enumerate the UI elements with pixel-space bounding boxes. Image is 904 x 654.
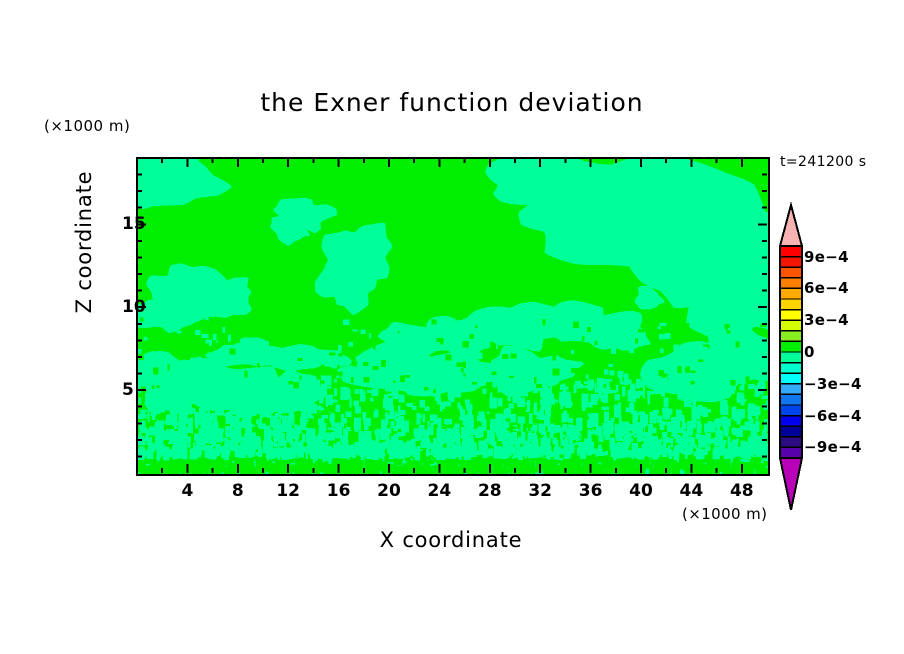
- turbulence-speck: [270, 446, 273, 452]
- turbulence-speck: [218, 417, 226, 420]
- turbulence-speck: [194, 446, 198, 459]
- turbulence-speck: [197, 356, 201, 358]
- turbulence-speck: [588, 430, 592, 441]
- turbulence-speck: [741, 449, 744, 458]
- turbulence-speck: [243, 415, 247, 423]
- turbulence-speck: [556, 379, 560, 384]
- turbulence-speck: [740, 426, 746, 430]
- turbulence-speck: [427, 421, 429, 431]
- turbulence-speck: [313, 337, 315, 341]
- turbulence-speck: [143, 414, 149, 416]
- turbulence-speck: [614, 394, 620, 400]
- turbulence-speck: [245, 427, 252, 436]
- turbulence-speck: [339, 353, 343, 357]
- turbulence-speck: [198, 396, 206, 404]
- turbulence-speck: [218, 393, 221, 403]
- turbulence-speck: [660, 348, 664, 353]
- turbulence-speck: [321, 376, 325, 381]
- turbulence-speck: [201, 390, 205, 392]
- turbulence-speck: [524, 469, 530, 474]
- turbulence-speck: [644, 378, 649, 385]
- turbulence-speck: [568, 435, 573, 444]
- turbulence-speck: [512, 426, 516, 429]
- turbulence-speck: [138, 349, 142, 354]
- turbulence-speck: [595, 394, 599, 400]
- turbulence-speck: [296, 468, 302, 471]
- turbulence-speck: [635, 339, 638, 344]
- turbulence-speck: [342, 451, 347, 453]
- turbulence-speck: [191, 460, 199, 463]
- turbulence-speck: [747, 441, 753, 452]
- turbulence-speck: [736, 342, 740, 348]
- turbulence-speck: [187, 422, 192, 433]
- page-title: the Exner function deviation: [0, 88, 904, 117]
- turbulence-speck: [558, 449, 563, 454]
- turbulence-speck: [531, 347, 537, 351]
- turbulence-speck: [447, 381, 451, 386]
- turbulence-speck: [505, 408, 510, 412]
- turbulence-speck: [763, 448, 768, 453]
- turbulence-speck: [547, 460, 549, 464]
- turbulence-speck: [432, 320, 437, 325]
- turbulence-speck: [678, 437, 684, 443]
- turbulence-speck: [643, 449, 649, 456]
- turbulence-speck: [673, 451, 676, 454]
- turbulence-speck: [450, 443, 453, 445]
- turbulence-speck: [318, 418, 325, 425]
- turbulence-speck: [458, 328, 463, 332]
- turbulence-speck: [152, 385, 155, 389]
- turbulence-speck: [577, 361, 582, 364]
- turbulence-speck: [213, 334, 216, 340]
- turbulence-speck: [285, 420, 291, 425]
- turbulence-speck: [760, 324, 767, 327]
- turbulence-speck: [344, 418, 347, 424]
- turbulence-speck: [575, 374, 579, 381]
- colorbar: 9e−46e−43e−40−3e−4−6e−4−9e−4: [770, 200, 890, 520]
- turbulence-speck: [462, 414, 465, 425]
- turbulence-speck: [205, 469, 212, 474]
- turbulence-speck: [341, 414, 344, 424]
- turbulence-speck: [515, 439, 521, 444]
- turbulence-speck: [667, 380, 674, 386]
- turbulence-speck: [308, 380, 313, 383]
- x-tick-label: 36: [579, 481, 603, 501]
- turbulence-speck: [431, 422, 434, 435]
- turbulence-speck: [604, 412, 609, 423]
- turbulence-speck: [251, 412, 257, 417]
- turbulence-speck: [159, 465, 166, 474]
- turbulence-speck: [289, 381, 293, 384]
- turbulence-speck: [335, 405, 340, 413]
- colorbar-band: [780, 278, 802, 289]
- turbulence-speck: [631, 388, 633, 400]
- turbulence-speck: [334, 356, 337, 360]
- turbulence-speck: [726, 389, 731, 392]
- turbulence-speck: [437, 427, 441, 439]
- turbulence-speck: [330, 414, 335, 423]
- colorbar-band: [780, 299, 802, 310]
- turbulence-speck: [695, 390, 699, 398]
- turbulence-speck: [672, 429, 678, 437]
- turbulence-speck: [189, 467, 194, 474]
- turbulence-speck: [638, 329, 644, 332]
- turbulence-speck: [475, 433, 481, 438]
- turbulence-speck: [723, 381, 730, 387]
- turbulence-speck: [627, 424, 634, 429]
- turbulence-speck: [390, 375, 394, 385]
- turbulence-speck: [376, 370, 380, 377]
- turbulence-speck: [639, 464, 642, 472]
- turbulence-speck: [761, 396, 768, 399]
- turbulence-speck: [424, 406, 429, 411]
- turbulence-speck: [731, 380, 736, 386]
- turbulence-speck: [669, 449, 672, 459]
- turbulence-speck: [748, 384, 755, 389]
- colorbar-band: [780, 331, 802, 342]
- turbulence-speck: [353, 401, 359, 407]
- turbulence-speck: [503, 470, 511, 473]
- turbulence-speck: [536, 384, 542, 388]
- turbulence-speck: [469, 471, 478, 474]
- turbulence-speck: [552, 355, 556, 361]
- turbulence-speck: [517, 322, 524, 327]
- turbulence-speck: [485, 444, 489, 453]
- turbulence-speck: [151, 460, 156, 471]
- turbulence-speck: [543, 436, 548, 445]
- turbulence-speck: [289, 408, 294, 410]
- turbulence-speck: [582, 336, 585, 341]
- turbulence-speck: [625, 408, 632, 412]
- turbulence-speck: [412, 415, 416, 420]
- turbulence-speck: [331, 469, 334, 472]
- plot-area: [136, 157, 770, 476]
- turbulence-speck: [756, 452, 762, 456]
- turbulence-speck: [606, 456, 611, 460]
- turbulence-speck: [737, 396, 740, 402]
- turbulence-speck: [203, 320, 208, 322]
- turbulence-speck: [232, 331, 234, 336]
- turbulence-speck: [764, 419, 768, 432]
- turbulence-speck: [338, 345, 342, 351]
- turbulence-speck: [278, 434, 283, 444]
- turbulence-speck: [494, 332, 498, 336]
- turbulence-speck: [661, 467, 667, 474]
- turbulence-speck: [183, 437, 191, 442]
- turbulence-speck: [469, 461, 478, 470]
- x-tick-label: 16: [327, 481, 351, 501]
- turbulence-speck: [584, 382, 590, 384]
- turbulence-speck: [511, 353, 517, 358]
- turbulence-speck: [680, 446, 682, 451]
- turbulence-speck: [461, 368, 463, 372]
- timestamp-label: t=241200 s: [780, 154, 866, 170]
- turbulence-speck: [500, 333, 506, 337]
- turbulence-speck: [187, 445, 191, 447]
- turbulence-speck: [655, 376, 658, 387]
- turbulence-speck: [298, 358, 303, 361]
- turbulence-speck: [387, 460, 396, 462]
- turbulence-speck: [509, 376, 514, 378]
- turbulence-speck: [464, 374, 466, 377]
- turbulence-speck: [663, 409, 671, 419]
- turbulence-speck: [238, 375, 244, 380]
- turbulence-speck: [182, 365, 189, 371]
- turbulence-speck: [571, 455, 576, 465]
- x-tick-label: 20: [377, 481, 401, 501]
- turbulence-speck: [724, 426, 729, 436]
- turbulence-speck: [684, 468, 693, 474]
- turbulence-speck: [215, 444, 219, 448]
- turbulence-speck: [591, 413, 598, 424]
- turbulence-speck: [329, 468, 334, 470]
- turbulence-speck: [529, 431, 532, 436]
- turbulence-speck: [486, 382, 493, 386]
- turbulence-speck: [257, 363, 260, 367]
- turbulence-speck: [349, 431, 352, 433]
- turbulence-speck: [332, 363, 338, 369]
- turbulence-speck: [253, 392, 258, 396]
- colorbar-band: [780, 246, 802, 257]
- turbulence-speck: [690, 423, 693, 428]
- turbulence-speck: [750, 356, 753, 358]
- turbulence-speck: [147, 380, 149, 384]
- turbulence-speck: [157, 408, 161, 414]
- turbulence-speck: [517, 398, 525, 407]
- turbulence-speck: [175, 408, 183, 413]
- turbulence-speck: [659, 334, 665, 340]
- turbulence-speck: [178, 423, 183, 426]
- turbulence-speck: [485, 324, 492, 328]
- turbulence-speck: [571, 350, 574, 354]
- turbulence-speck: [236, 399, 244, 410]
- turbulence-speck: [150, 446, 156, 451]
- turbulence-speck: [270, 358, 276, 364]
- turbulence-speck: [708, 458, 714, 465]
- turbulence-speck: [172, 333, 179, 336]
- turbulence-speck: [245, 371, 248, 378]
- turbulence-speck: [338, 458, 344, 468]
- turbulence-speck: [188, 389, 195, 395]
- turbulence-speck: [607, 421, 614, 434]
- turbulence-speck: [258, 392, 260, 401]
- turbulence-speck: [260, 404, 263, 417]
- turbulence-speck: [690, 381, 694, 384]
- turbulence-speck: [448, 390, 450, 401]
- turbulence-speck: [553, 425, 561, 433]
- turbulence-speck: [551, 465, 555, 472]
- turbulence-speck: [736, 447, 742, 457]
- turbulence-speck: [501, 434, 506, 444]
- turbulence-speck: [276, 444, 283, 446]
- turbulence-speck: [693, 412, 696, 422]
- turbulence-speck: [443, 402, 451, 407]
- turbulence-speck: [687, 348, 693, 351]
- turbulence-speck: [586, 353, 588, 360]
- turbulence-speck: [354, 418, 361, 431]
- turbulence-speck: [528, 365, 532, 368]
- turbulence-speck: [302, 403, 306, 411]
- turbulence-speck: [456, 444, 458, 452]
- turbulence-speck: [611, 347, 616, 354]
- turbulence-speck: [138, 440, 143, 446]
- turbulence-speck: [149, 321, 153, 324]
- turbulence-speck: [630, 451, 636, 458]
- turbulence-speck: [494, 449, 499, 459]
- turbulence-speck: [319, 392, 323, 403]
- turbulence-speck: [563, 428, 567, 432]
- turbulence-speck: [255, 440, 260, 444]
- turbulence-speck: [155, 351, 161, 356]
- turbulence-speck: [551, 398, 554, 404]
- turbulence-speck: [717, 436, 723, 442]
- turbulence-speck: [504, 446, 511, 456]
- turbulence-speck: [653, 415, 656, 424]
- turbulence-speck: [523, 382, 526, 385]
- x-tick-label: 44: [680, 481, 704, 501]
- turbulence-speck: [334, 379, 337, 382]
- turbulence-speck: [676, 381, 681, 394]
- turbulence-speck: [224, 345, 227, 350]
- turbulence-speck: [220, 383, 226, 391]
- turbulence-speck: [713, 364, 720, 371]
- turbulence-speck: [426, 449, 429, 457]
- turbulence-speck: [749, 419, 754, 422]
- turbulence-speck: [564, 449, 570, 459]
- turbulence-speck: [589, 383, 593, 390]
- x-tick-label: 28: [478, 481, 502, 501]
- turbulence-speck: [240, 441, 248, 448]
- turbulence-speck: [583, 386, 587, 388]
- turbulence-speck: [503, 421, 509, 428]
- turbulence-speck: [714, 411, 717, 419]
- turbulence-speck: [295, 349, 299, 354]
- turbulence-speck: [450, 374, 453, 379]
- turbulence-speck: [514, 358, 518, 365]
- turbulence-speck: [313, 361, 318, 367]
- turbulence-speck: [408, 444, 411, 451]
- turbulence-speck: [696, 426, 701, 434]
- colorbar-band: [780, 267, 802, 278]
- turbulence-speck: [465, 452, 470, 456]
- turbulence-speck: [294, 390, 300, 401]
- turbulence-speck: [725, 324, 728, 330]
- colorbar-tick-label: −3e−4: [804, 375, 862, 393]
- turbulence-speck: [603, 359, 606, 365]
- turbulence-speck: [257, 472, 266, 474]
- turbulence-speck: [497, 383, 504, 393]
- turbulence-speck: [177, 331, 182, 334]
- turbulence-speck: [236, 431, 242, 438]
- turbulence-speck: [373, 366, 379, 370]
- turbulence-speck: [451, 439, 455, 451]
- turbulence-speck: [756, 350, 760, 354]
- turbulence-speck: [267, 431, 275, 437]
- turbulence-speck: [175, 448, 182, 452]
- colorbar-band: [780, 373, 802, 384]
- turbulence-speck: [346, 411, 352, 417]
- turbulence-speck: [302, 446, 307, 452]
- turbulence-speck: [722, 417, 728, 427]
- turbulence-speck: [534, 423, 536, 425]
- turbulence-speck: [701, 441, 707, 446]
- x-tick-label: 40: [629, 481, 653, 501]
- turbulence-speck: [508, 404, 514, 409]
- turbulence-speck: [678, 328, 684, 333]
- turbulence-speck: [605, 451, 608, 455]
- turbulence-speck: [698, 360, 703, 362]
- colorbar-tick-label: 6e−4: [804, 279, 849, 297]
- turbulence-speck: [762, 441, 765, 446]
- turbulence-speck: [746, 376, 750, 383]
- turbulence-speck: [691, 387, 696, 389]
- turbulence-speck: [209, 343, 212, 346]
- turbulence-speck: [249, 463, 255, 473]
- turbulence-speck: [586, 374, 588, 379]
- turbulence-speck: [544, 469, 551, 474]
- turbulence-speck: [595, 389, 602, 393]
- turbulence-speck: [628, 390, 635, 401]
- turbulence-speck: [596, 450, 599, 456]
- turbulence-speck: [186, 469, 188, 471]
- turbulence-speck: [577, 418, 581, 425]
- turbulence-speck: [414, 423, 416, 426]
- turbulence-speck: [235, 451, 242, 457]
- turbulence-speck: [273, 403, 278, 407]
- turbulence-speck: [158, 327, 161, 333]
- turbulence-speck: [324, 338, 329, 344]
- turbulence-speck: [308, 439, 314, 446]
- turbulence-speck: [225, 356, 228, 362]
- turbulence-speck: [517, 429, 520, 432]
- turbulence-speck: [385, 337, 389, 342]
- turbulence-speck: [201, 457, 205, 465]
- turbulence-speck: [552, 326, 557, 333]
- turbulence-speck: [383, 399, 390, 409]
- turbulence-speck: [347, 462, 350, 470]
- turbulence-speck: [185, 355, 189, 360]
- turbulence-speck: [758, 383, 760, 387]
- turbulence-speck: [173, 435, 176, 444]
- turbulence-speck: [526, 384, 531, 389]
- turbulence-speck: [364, 377, 370, 383]
- turbulence-speck: [261, 462, 268, 464]
- turbulence-speck: [491, 316, 493, 321]
- turbulence-speck: [209, 448, 216, 459]
- turbulence-speck: [367, 318, 371, 324]
- turbulence-speck: [662, 432, 668, 437]
- turbulence-speck: [397, 432, 403, 436]
- turbulence-speck: [710, 343, 715, 346]
- turbulence-speck: [487, 466, 491, 474]
- turbulence-speck: [169, 415, 175, 425]
- x-tick-label: 12: [276, 481, 300, 501]
- y-axis-units-label: (×1000 m): [44, 117, 130, 135]
- turbulence-speck: [648, 383, 652, 386]
- x-axis-units-label: (×1000 m): [682, 505, 767, 523]
- turbulence-speck: [385, 413, 388, 426]
- turbulence-speck: [449, 450, 453, 459]
- turbulence-speck: [477, 334, 480, 337]
- turbulence-speck: [647, 391, 654, 394]
- turbulence-speck: [369, 333, 371, 338]
- turbulence-speck: [224, 441, 230, 452]
- colorbar-over-arrow: [780, 205, 802, 246]
- turbulence-speck: [254, 379, 257, 382]
- turbulence-speck: [563, 394, 566, 406]
- turbulence-speck: [568, 401, 572, 406]
- colorbar-band: [780, 320, 802, 331]
